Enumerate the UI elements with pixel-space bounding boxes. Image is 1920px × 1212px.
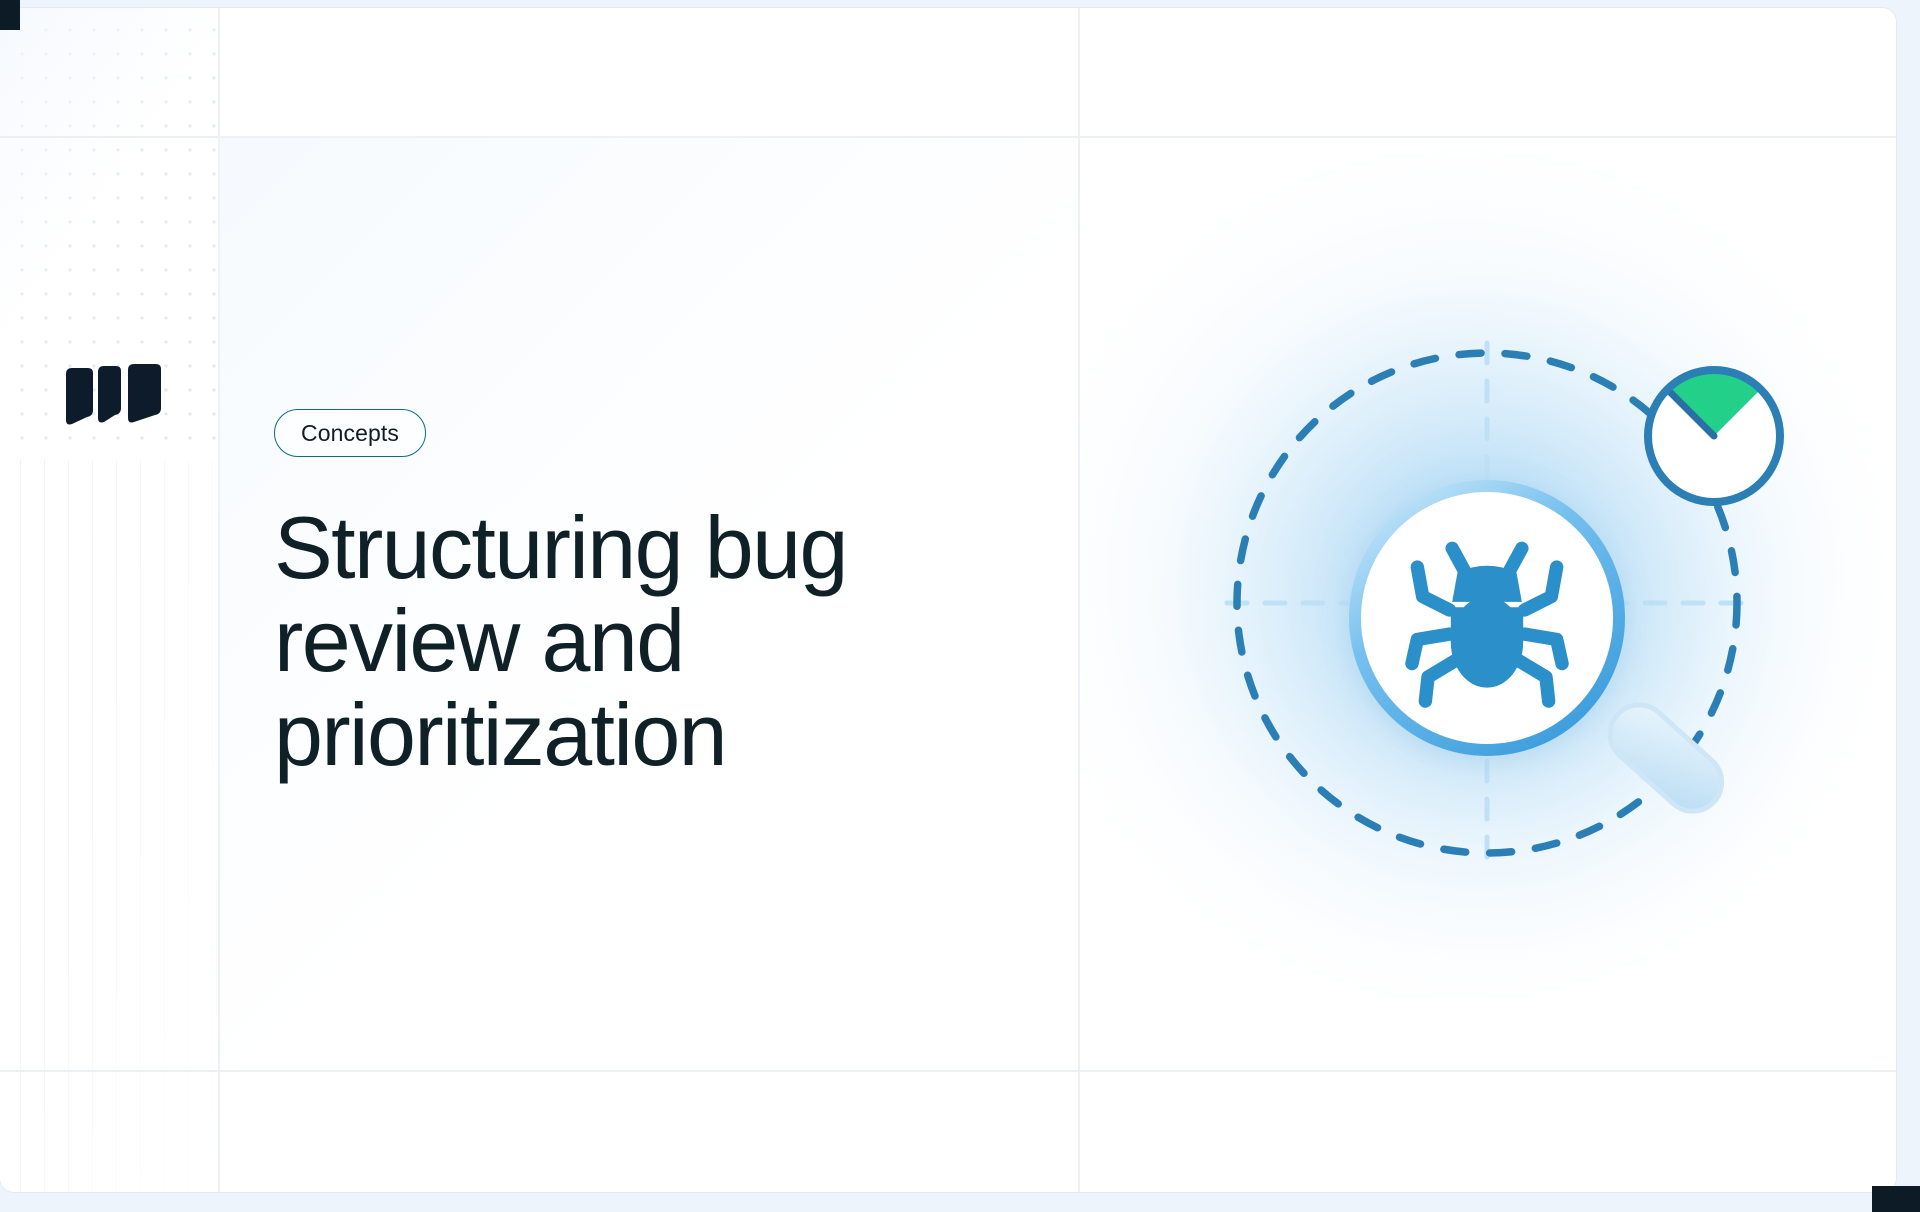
brand-logo[interactable] xyxy=(60,364,170,430)
category-badge[interactable]: Concepts xyxy=(274,409,426,457)
pie-chart-badge xyxy=(1648,370,1780,502)
article-hero-card: Concepts Structuring bug review and prio… xyxy=(0,8,1896,1192)
pinstripe-pattern xyxy=(20,460,218,1192)
hero-content: Concepts Structuring bug review and prio… xyxy=(218,136,1078,1070)
grid-line-horizontal-bottom xyxy=(0,1070,1896,1072)
corner-marker-bottom-right xyxy=(1872,1186,1920,1212)
bug-magnifier-illustration xyxy=(1078,193,1896,1013)
corner-marker-top-left xyxy=(0,0,20,30)
page-title: Structuring bug review and prioritizatio… xyxy=(274,501,974,781)
decorative-left-rail xyxy=(0,8,218,1192)
hero-illustration-panel xyxy=(1078,136,1896,1070)
page-root: Concepts Structuring bug review and prio… xyxy=(0,0,1920,1212)
